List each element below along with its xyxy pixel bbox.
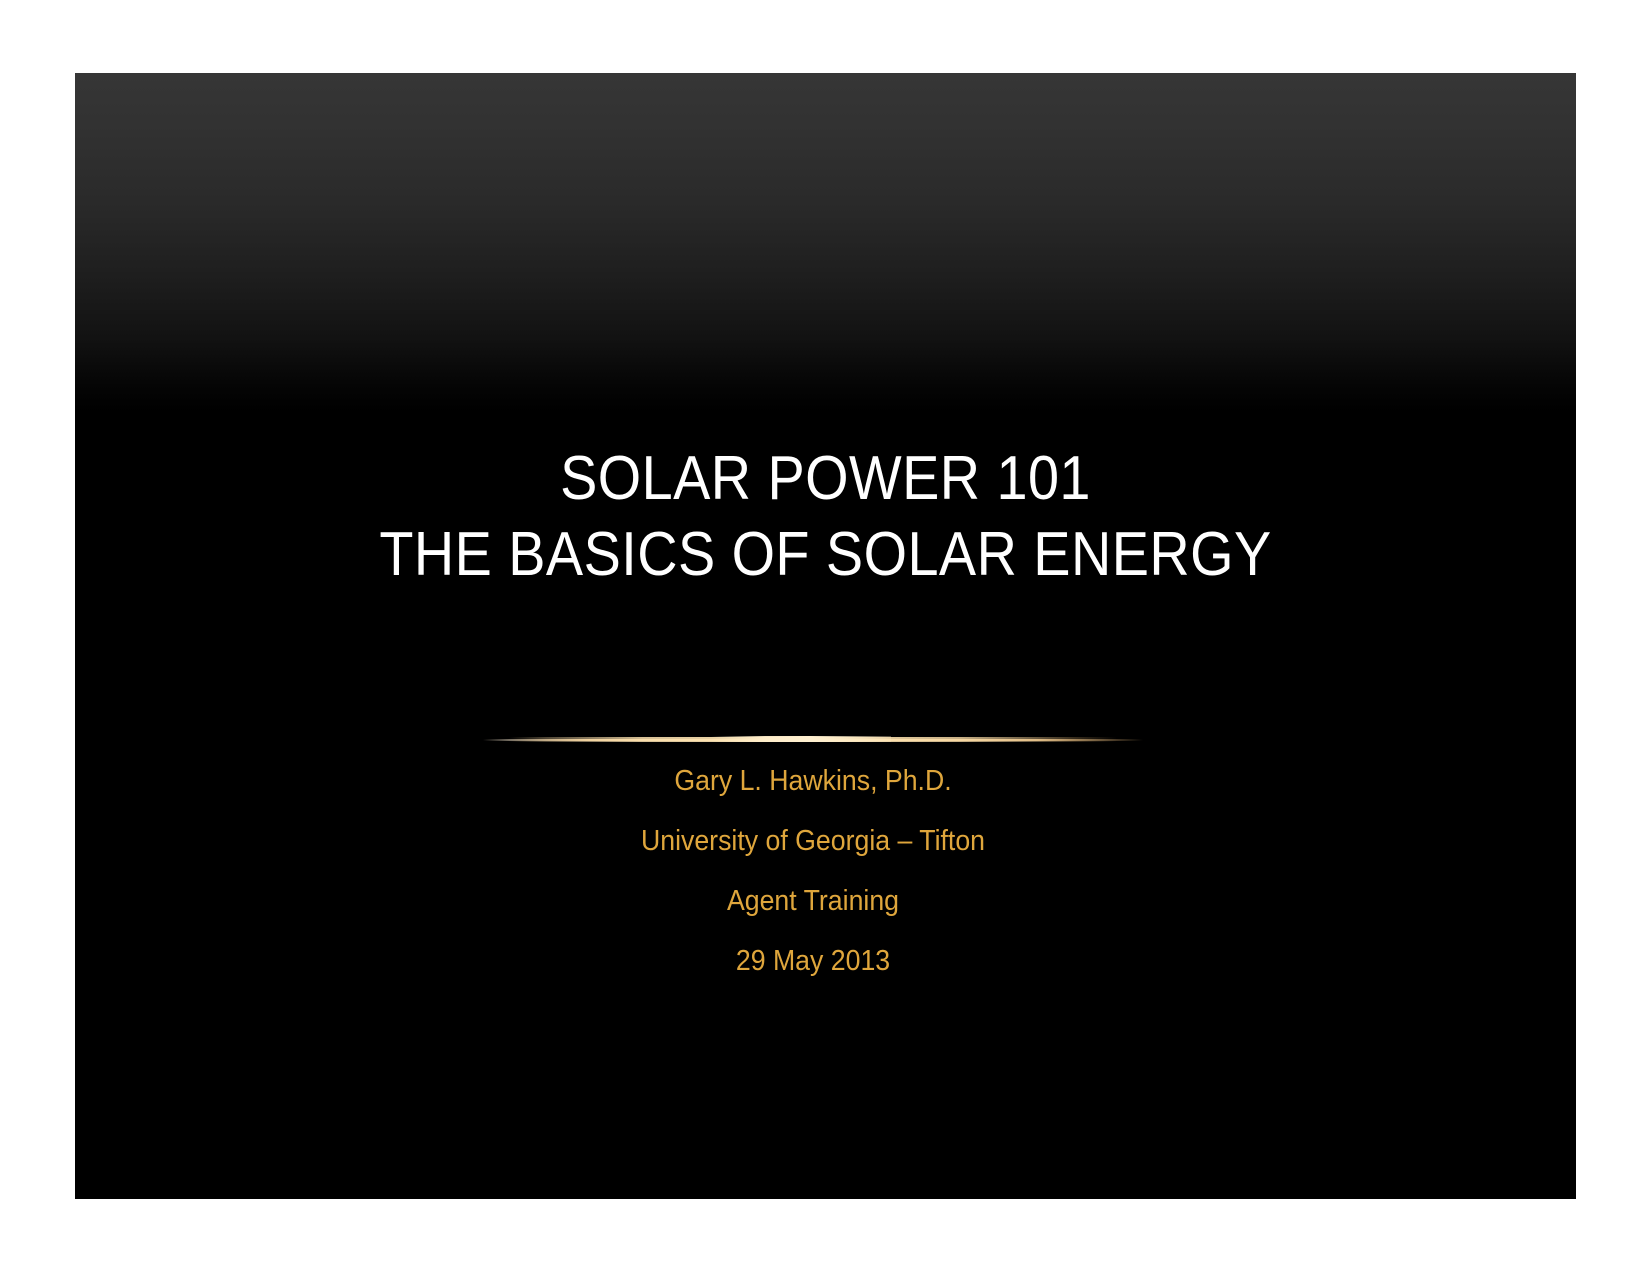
divider-highlight	[711, 736, 891, 742]
subtitle-affiliation: University of Georgia – Tifton	[509, 811, 1116, 871]
page-canvas: SOLAR POWER 101 THE BASICS OF SOLAR ENER…	[0, 0, 1650, 1275]
slide-title: SOLAR POWER 101 THE BASICS OF SOLAR ENER…	[75, 441, 1576, 593]
slide-top-gradient	[75, 73, 1576, 413]
slide-subtitle: Gary L. Hawkins, Ph.D. University of Geo…	[483, 751, 1143, 991]
title-line-1: SOLAR POWER 101	[150, 441, 1501, 517]
subtitle-event: Agent Training	[509, 871, 1116, 931]
title-divider	[483, 731, 1143, 749]
subtitle-presenter: Gary L. Hawkins, Ph.D.	[509, 751, 1116, 811]
title-line-2: THE BASICS OF SOLAR ENERGY	[150, 517, 1501, 593]
presentation-slide: SOLAR POWER 101 THE BASICS OF SOLAR ENER…	[75, 73, 1576, 1199]
subtitle-date: 29 May 2013	[509, 931, 1116, 991]
